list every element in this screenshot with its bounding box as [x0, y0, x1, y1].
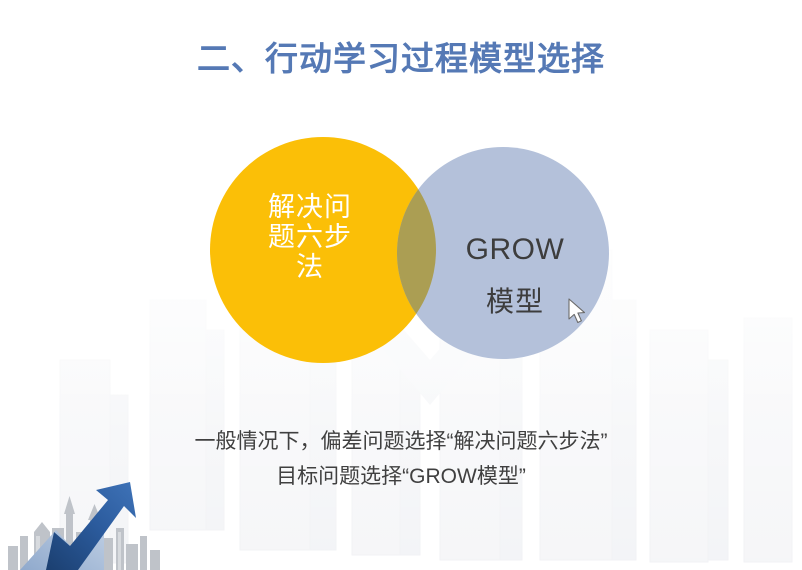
page-title: 二、行动学习过程模型选择: [0, 32, 802, 80]
presentation-slide: 二、行动学习过程模型选择 解决问 题六步 法 GROW 模型 一般情况下，偏差问: [0, 0, 802, 570]
venn-label-right-cn: 模型: [435, 286, 595, 317]
venn-label-left: 解决问 题六步 法: [250, 192, 370, 283]
skyline-buildings: [8, 496, 160, 570]
arrow-primary: [46, 482, 136, 570]
caption-line-2: 目标问题选择“GROW模型”: [0, 460, 802, 495]
slide-caption: 一般情况下，偏差问题选择“解决问题六步法” 目标问题选择“GROW模型”: [0, 425, 802, 494]
venn-label-right-en: GROW: [435, 233, 595, 267]
arrow-secondary: [20, 516, 104, 570]
venn-diagram: 解决问 题六步 法 GROW 模型: [195, 130, 630, 375]
skyline-building-highlights: [36, 526, 121, 570]
caption-line-1: 一般情况下，偏差问题选择“解决问题六步法”: [0, 425, 802, 460]
venn-label-right: GROW 模型: [435, 215, 595, 336]
